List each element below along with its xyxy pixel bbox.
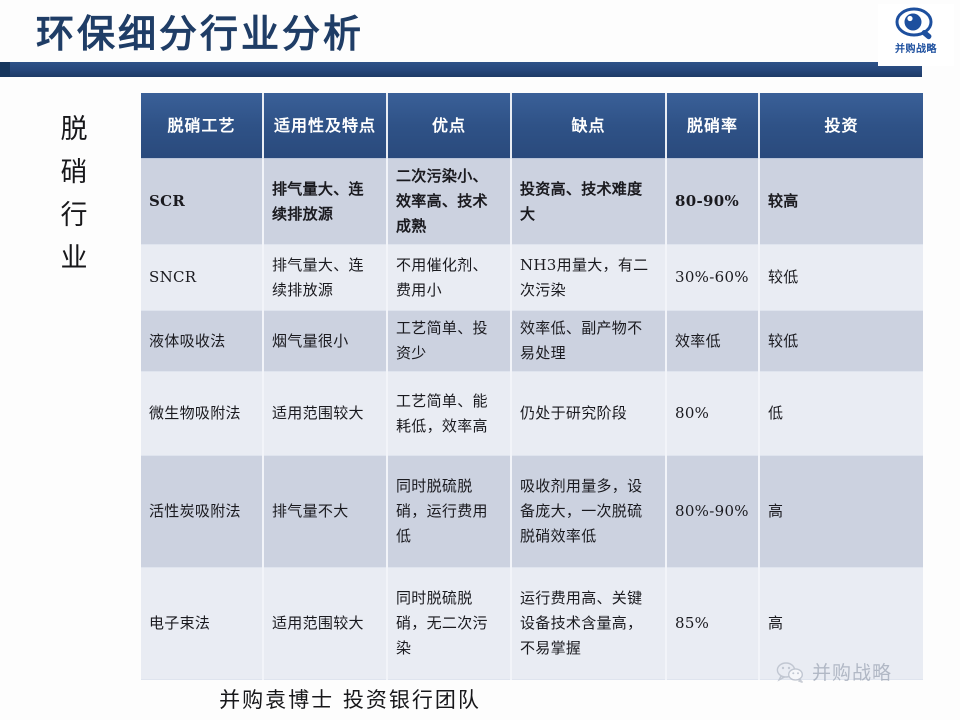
cell-process: 微生物吸附法 <box>141 372 263 456</box>
eye-magnifier-icon <box>894 4 938 44</box>
side-label-char-2: 硝 <box>46 151 102 194</box>
cell-rate: 效率低 <box>666 311 759 372</box>
cell-features: 排气量大、连续排放源 <box>263 159 387 245</box>
cell-rate: 80%-90% <box>666 456 759 568</box>
cell-process: SNCR <box>141 245 263 311</box>
cell-cons: NH3用量大，有二次污染 <box>511 245 666 311</box>
column-header-pros: 优点 <box>387 93 511 159</box>
footer-attribution: 并购袁博士 投资银行团队 <box>0 684 700 714</box>
cell-pros: 同时脱硫脱硝，无二次污染 <box>387 568 511 680</box>
cell-investment: 较低 <box>759 311 923 372</box>
slide-header: 环保细分行业分析 并购战略 <box>0 0 960 80</box>
cell-features: 排气量大、连续排放源 <box>263 245 387 311</box>
column-header-process: 脱硝工艺 <box>141 93 263 159</box>
cell-pros: 工艺简单、投资少 <box>387 311 511 372</box>
side-label-char-4: 业 <box>46 237 102 280</box>
cell-cons: 效率低、副产物不易处理 <box>511 311 666 372</box>
cell-features: 适用范围较大 <box>263 568 387 680</box>
wechat-watermark: 并购战略 <box>776 658 892 685</box>
cell-rate: 85% <box>666 568 759 680</box>
brand-logo-caption: 并购战略 <box>878 44 954 56</box>
cell-pros: 不用催化剂、费用小 <box>387 245 511 311</box>
cell-pros: 工艺简单、能耗低，效率高 <box>387 372 511 456</box>
table-row[interactable]: 液体吸收法 烟气量很小 工艺简单、投资少 效率低、副产物不易处理 效率低 较低 <box>141 311 923 372</box>
column-header-features: 适用性及特点 <box>263 93 387 159</box>
cell-features: 适用范围较大 <box>263 372 387 456</box>
title-divider-cap <box>0 62 10 77</box>
side-label-char-1: 脱 <box>46 108 102 151</box>
slide-canvas: 环保细分行业分析 并购战略 脱 硝 行 业 脱硝工艺 适用性及特点 <box>0 0 960 720</box>
table-row[interactable]: SNCR 排气量大、连续排放源 不用催化剂、费用小 NH3用量大，有二次污染 3… <box>141 245 923 311</box>
watermark-label: 并购战略 <box>812 658 892 685</box>
cell-investment: 较低 <box>759 245 923 311</box>
cell-cons: 吸收剂用量多，设备庞大，一次脱硫脱硝效率低 <box>511 456 666 568</box>
side-label-char-3: 行 <box>46 194 102 237</box>
cell-pros: 同时脱硫脱硝，运行费用低 <box>387 456 511 568</box>
wechat-icon <box>776 661 806 683</box>
cell-rate: 30%-60% <box>666 245 759 311</box>
cell-process: 电子束法 <box>141 568 263 680</box>
brand-logo: 并购战略 <box>878 4 954 66</box>
denitrification-process-table: 脱硝工艺 适用性及特点 优点 缺点 脱硝率 投资 SCR 排气量大、连续排放源 … <box>141 93 923 680</box>
cell-investment: 低 <box>759 372 923 456</box>
cell-cons: 仍处于研究阶段 <box>511 372 666 456</box>
table-row[interactable]: 微生物吸附法 适用范围较大 工艺简单、能耗低，效率高 仍处于研究阶段 80% 低 <box>141 372 923 456</box>
column-header-cons: 缺点 <box>511 93 666 159</box>
cell-features: 排气量不大 <box>263 456 387 568</box>
table-row[interactable]: 活性炭吸附法 排气量不大 同时脱硫脱硝，运行费用低 吸收剂用量多，设备庞大，一次… <box>141 456 923 568</box>
column-header-rate: 脱硝率 <box>666 93 759 159</box>
table-header-row: 脱硝工艺 适用性及特点 优点 缺点 脱硝率 投资 <box>141 93 923 159</box>
cell-process: SCR <box>141 159 263 245</box>
cell-cons: 运行费用高、关键设备技术含量高，不易掌握 <box>511 568 666 680</box>
cell-cons: 投资高、技术难度大 <box>511 159 666 245</box>
column-header-investment: 投资 <box>759 93 923 159</box>
cell-features: 烟气量很小 <box>263 311 387 372</box>
cell-investment: 较高 <box>759 159 923 245</box>
title-divider-bar <box>0 62 922 77</box>
table-row[interactable]: SCR 排气量大、连续排放源 二次污染小、效率高、技术成熟 投资高、技术难度大 … <box>141 159 923 245</box>
cell-rate: 80% <box>666 372 759 456</box>
cell-process: 液体吸收法 <box>141 311 263 372</box>
cell-investment: 高 <box>759 456 923 568</box>
page-title: 环保细分行业分析 <box>36 9 364 59</box>
cell-rate: 80-90% <box>666 159 759 245</box>
section-side-label: 脱 硝 行 业 <box>46 108 102 280</box>
cell-pros: 二次污染小、效率高、技术成熟 <box>387 159 511 245</box>
cell-process: 活性炭吸附法 <box>141 456 263 568</box>
